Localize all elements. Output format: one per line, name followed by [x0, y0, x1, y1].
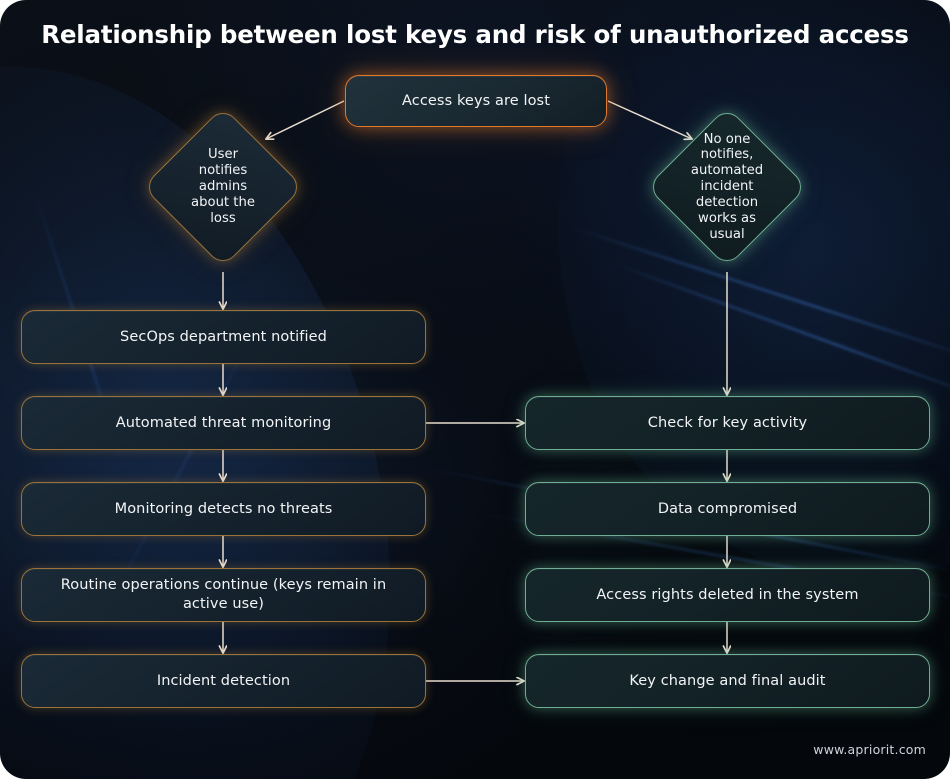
diagram-title: Relationship between lost keys and risk … [0, 20, 950, 49]
node-incident-detection[interactable]: Incident detection [21, 654, 426, 708]
node-routine-operations-continue[interactable]: Routine operations continue (keys remain… [21, 568, 426, 622]
node-automated-threat-monitoring[interactable]: Automated threat monitoring [21, 396, 426, 450]
background-streak [612, 262, 950, 402]
node-data-compromised[interactable]: Data compromised [525, 482, 930, 536]
node-access-keys-are-lost[interactable]: Access keys are lost [345, 75, 607, 127]
node-user-notifies-admins-label: User notifies admins about the loss [166, 130, 280, 244]
watermark: www.apriorit.com [813, 742, 926, 757]
node-key-change-and-final-audit[interactable]: Key change and final audit [525, 654, 930, 708]
node-no-one-notifies-label: No one notifies, automated incident dete… [670, 130, 784, 244]
diagram-canvas: Relationship between lost keys and risk … [0, 0, 950, 779]
node-user-notifies-admins[interactable]: User notifies admins about the loss [166, 130, 280, 244]
node-no-one-notifies[interactable]: No one notifies, automated incident dete… [670, 130, 784, 244]
node-access-rights-deleted[interactable]: Access rights deleted in the system [525, 568, 930, 622]
node-monitoring-detects-no-threats[interactable]: Monitoring detects no threats [21, 482, 426, 536]
node-secops-department-notified[interactable]: SecOps department notified [21, 310, 426, 364]
node-check-for-key-activity[interactable]: Check for key activity [525, 396, 930, 450]
background-streak [570, 226, 950, 362]
